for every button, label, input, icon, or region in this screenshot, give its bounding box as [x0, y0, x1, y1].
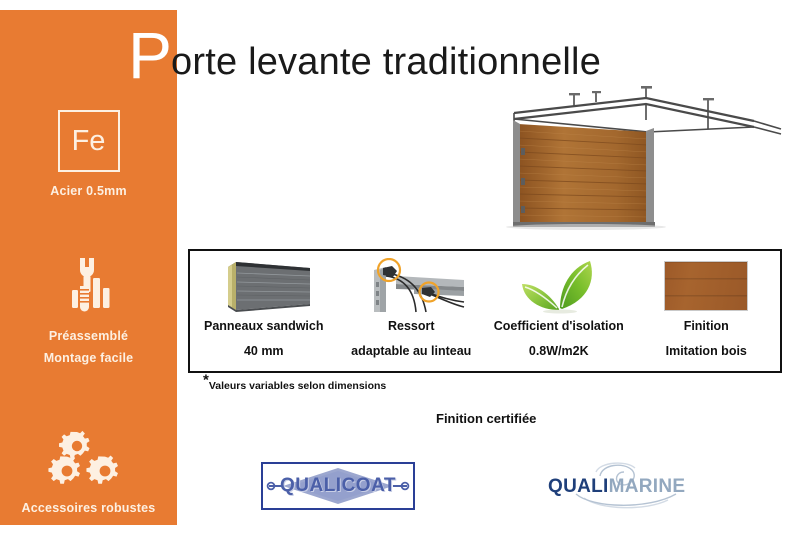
sandwich-panel-icon	[214, 258, 314, 314]
feature-title: Ressort	[388, 319, 435, 333]
feature-title: Finition	[684, 319, 729, 333]
spring-mechanism-icon	[356, 258, 466, 314]
footnote-text: Valeurs variables selon dimensions	[209, 380, 386, 392]
qualimarine-text: QUALIMARINE	[548, 476, 685, 498]
page-title: P orte levante traditionnelle	[128, 22, 601, 84]
sidebar-item-acier: Fe Acier 0.5mm	[0, 110, 177, 201]
sidebar-item-label-preassemble: Préassemblé	[0, 327, 177, 346]
feature-value: 40 mm	[244, 344, 284, 358]
certification-title: Finition certifiée	[436, 411, 536, 426]
wood-swatch-icon	[664, 258, 748, 314]
feature-value: adaptable au linteau	[351, 344, 471, 358]
sidebar-item-accessoires: Accessoires robustes	[0, 425, 177, 518]
feature-coefficient-isolation: Coefficient d'isolation 0.8W/m2K	[485, 251, 633, 371]
features-box: Panneaux sandwich 40 mm	[188, 249, 782, 373]
sidebar-item-preassemble: Préassemblé Montage facile	[0, 253, 177, 368]
feature-title: Panneaux sandwich	[204, 319, 323, 333]
sidebar-item-label-montage: Montage facile	[0, 349, 177, 368]
footnote: *Valeurs variables selon dimensions	[203, 380, 386, 392]
qualicoat-text: QUALICOAT	[265, 466, 411, 506]
garage-door-image	[496, 86, 786, 231]
qualimarine-text-primary: QUALI	[548, 476, 609, 497]
qualimarine-text-secondary: MARINE	[609, 476, 686, 497]
feature-value: Imitation bois	[666, 344, 747, 358]
page-title-initial: P	[128, 26, 171, 84]
feature-finition: Finition Imitation bois	[633, 251, 781, 371]
qualimarine-logo: QUALIMARINE	[540, 460, 715, 512]
feature-ressort: Ressort adaptable au linteau	[338, 251, 486, 371]
feature-value: 0.8W/m2K	[529, 344, 589, 358]
feature-title: Coefficient d'isolation	[494, 319, 624, 333]
qualicoat-logo: QUALICOAT	[261, 462, 415, 510]
page-root: Fe Acier 0.5mm	[0, 0, 800, 534]
leaf-icon	[516, 258, 602, 314]
feature-panneaux-sandwich: Panneaux sandwich 40 mm	[190, 251, 338, 371]
sidebar-item-label-accessoires: Accessoires robustes	[0, 499, 177, 518]
sidebar-item-label-acier: Acier 0.5mm	[0, 182, 177, 201]
page-title-rest: orte levante traditionnelle	[171, 40, 601, 84]
fe-element-icon: Fe	[58, 110, 120, 172]
tools-icon	[0, 253, 177, 319]
fe-symbol: Fe	[72, 127, 106, 156]
gears-icon	[0, 425, 177, 491]
